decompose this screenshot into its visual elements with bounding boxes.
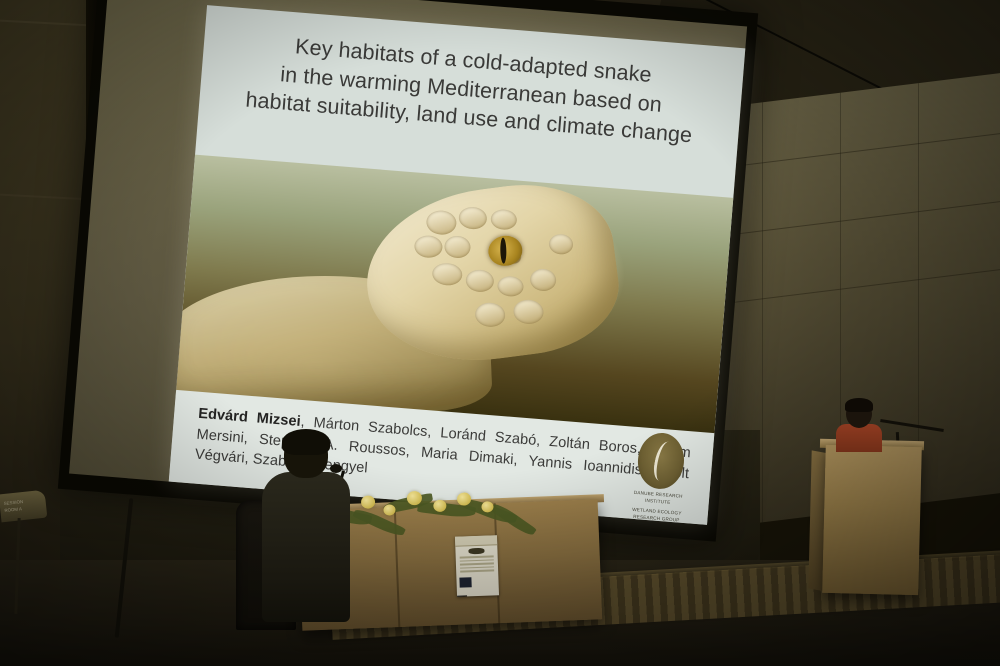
snake-logo-icon	[636, 431, 686, 491]
projected-slide: Key habitats of a cold-adapted snake in …	[169, 5, 746, 525]
slide-title: Key habitats of a cold-adapted snake in …	[199, 25, 744, 154]
speaker-podium	[822, 445, 922, 595]
screen-surface: Key habitats of a cold-adapted snake in …	[69, 0, 747, 525]
first-author: Edvárd Mizsei	[198, 406, 302, 430]
poster-logo-icon	[468, 548, 484, 555]
slide-snake-photo	[176, 155, 733, 436]
projection-screen: Key habitats of a cold-adapted snake in …	[58, 0, 758, 542]
photo-scene: Key habitats of a cold-adapted snake in …	[0, 0, 1000, 666]
sign-pole	[14, 518, 20, 614]
flower-arrangement	[321, 482, 554, 554]
standing-speaker	[836, 400, 882, 450]
side-sign-stand: SESSION ROOM A	[0, 492, 48, 612]
sign-text: SESSION ROOM A	[3, 498, 24, 514]
left-wall-seam-lower	[0, 194, 90, 201]
left-wall-seam	[0, 20, 90, 27]
institution-logo: DANUBE RESEARCH INSTITUTE WETLAND ECOLOG…	[620, 430, 700, 518]
logo-caption-line-2: WETLAND ECOLOGY RESEARCH GROUP	[619, 506, 694, 525]
seated-moderator	[258, 432, 350, 622]
